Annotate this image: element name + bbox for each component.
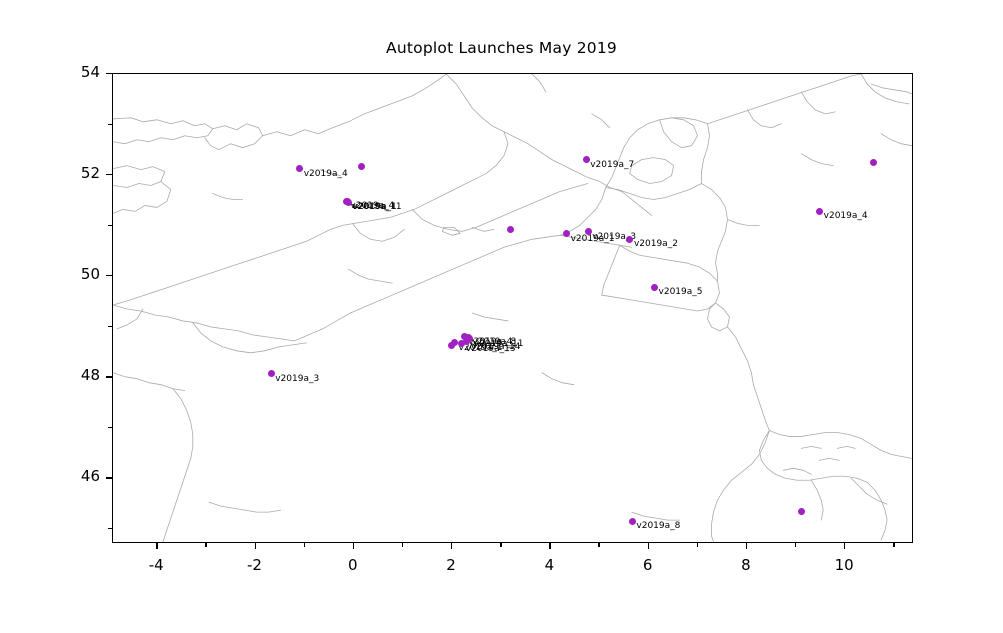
x-minor-tick: [402, 543, 403, 547]
x-tick-label: 2: [421, 556, 481, 574]
y-tick-label: 48: [40, 366, 100, 384]
x-minor-tick: [795, 543, 796, 547]
y-major-tick: [106, 477, 112, 478]
scatter-point[interactable]: [296, 165, 303, 172]
y-minor-tick: [108, 326, 112, 327]
page-title: Autoplot Launches May 2019: [0, 39, 1003, 57]
scatter-point[interactable]: [583, 156, 590, 163]
y-minor-tick: [108, 225, 112, 226]
scatter-points-layer: v2019a_4v2019a_4v2019a_11v2019a_1v2019a_…: [113, 74, 912, 542]
y-minor-tick: [108, 124, 112, 125]
x-major-tick: [451, 543, 452, 549]
x-tick-label: 4: [519, 556, 579, 574]
scatter-point-label: v2019a_3: [275, 374, 319, 384]
scatter-point[interactable]: [585, 228, 592, 235]
x-minor-tick: [304, 543, 305, 547]
scatter-point-label: v2019a_2: [634, 239, 678, 249]
y-tick-label: 54: [40, 63, 100, 81]
y-major-tick: [106, 174, 112, 175]
y-major-tick: [106, 275, 112, 276]
x-major-tick: [844, 543, 845, 549]
scatter-point-label: v2019a_8: [636, 521, 680, 531]
y-axis-ticks: 4648505254: [36, 0, 100, 633]
matplotlib-figure: Autoplot Launches May 2019: [0, 0, 1003, 633]
scatter-point-label: v2019a_13: [466, 344, 516, 354]
scatter-point-label: v2019a_5: [659, 287, 703, 297]
x-major-tick: [746, 543, 747, 549]
y-major-tick: [106, 376, 112, 377]
scatter-point-label: v2019a_4: [824, 211, 868, 221]
x-minor-tick: [893, 543, 894, 547]
x-tick-label: 0: [323, 556, 383, 574]
scatter-point[interactable]: [358, 163, 365, 170]
y-tick-label: 50: [40, 265, 100, 283]
x-tick-label: -2: [225, 556, 285, 574]
scatter-point[interactable]: [798, 508, 805, 515]
x-minor-tick: [598, 543, 599, 547]
scatter-point[interactable]: [870, 159, 877, 166]
scatter-point[interactable]: [651, 284, 658, 291]
x-major-tick: [156, 543, 157, 549]
x-tick-label: -4: [126, 556, 186, 574]
scatter-point[interactable]: [507, 226, 514, 233]
x-major-tick: [255, 543, 256, 549]
x-tick-label: 10: [814, 556, 874, 574]
scatter-point-label: v2019a_1: [353, 202, 397, 212]
plot-area[interactable]: v2019a_4v2019a_4v2019a_11v2019a_1v2019a_…: [112, 73, 913, 543]
scatter-point[interactable]: [448, 342, 455, 349]
y-tick-label: 46: [40, 467, 100, 485]
y-minor-tick: [108, 427, 112, 428]
y-major-tick: [106, 73, 112, 74]
x-major-tick: [549, 543, 550, 549]
x-minor-tick: [205, 543, 206, 547]
scatter-point[interactable]: [626, 236, 633, 243]
x-major-tick: [648, 543, 649, 549]
x-major-tick: [353, 543, 354, 549]
y-minor-tick: [108, 528, 112, 529]
y-tick-label: 52: [40, 164, 100, 182]
scatter-point[interactable]: [629, 518, 636, 525]
scatter-point-label: v2019a_7: [590, 160, 634, 170]
x-tick-label: 8: [716, 556, 776, 574]
scatter-point[interactable]: [816, 208, 823, 215]
scatter-point[interactable]: [268, 370, 275, 377]
x-minor-tick: [697, 543, 698, 547]
x-minor-tick: [500, 543, 501, 547]
scatter-point[interactable]: [563, 230, 570, 237]
x-tick-label: 6: [618, 556, 678, 574]
scatter-point-label: v2019a_4: [304, 169, 348, 179]
